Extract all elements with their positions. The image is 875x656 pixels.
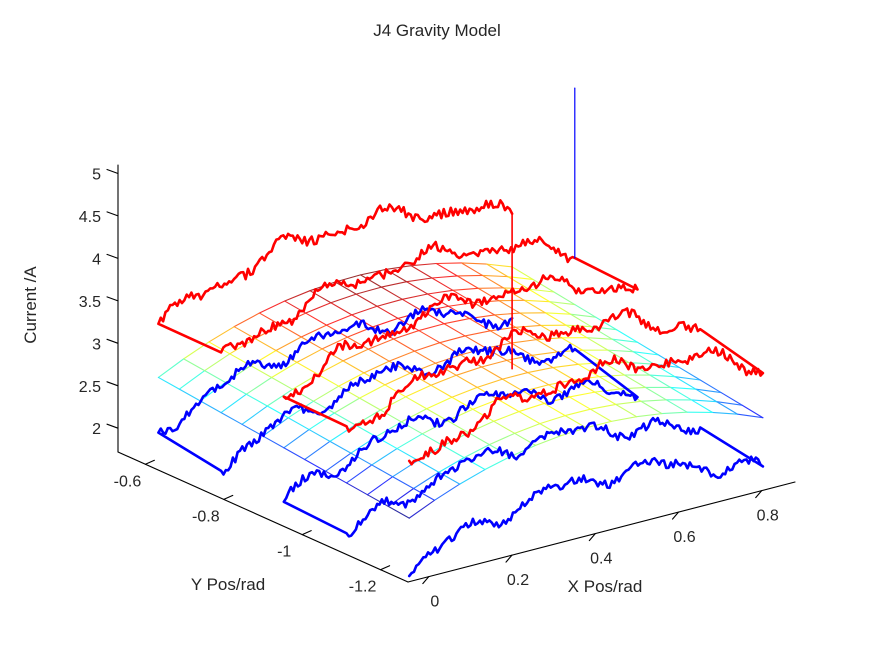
tick-label: 3.5: [79, 294, 101, 311]
data-traces: [158, 88, 763, 576]
tick-label: 0.6: [673, 529, 695, 546]
x-axis-label: X Pos/rad: [568, 577, 643, 596]
tick-label: -1: [277, 544, 291, 561]
z-axis-label: Current /A: [21, 266, 40, 344]
axis-text: 00.20.40.60.8-0.6-0.8-1-1.222.533.544.55: [79, 166, 779, 610]
chart-title: J4 Gravity Model: [373, 21, 501, 40]
surface-plot-canvas: 00.20.40.60.8-0.6-0.8-1-1.222.533.544.55…: [0, 0, 875, 656]
tick-label: 0.8: [757, 508, 779, 525]
tick-label: 3: [92, 336, 101, 353]
tick-label: 4.5: [79, 209, 101, 226]
tick-label: 5: [92, 166, 101, 183]
tick-label: -1.2: [349, 579, 377, 596]
tick-label: -0.8: [192, 508, 220, 525]
negative-direction-trace: [158, 307, 763, 576]
tick-label: 4: [92, 251, 101, 268]
surface-mesh: [158, 263, 763, 518]
tick-label: 0: [430, 594, 439, 611]
y-axis-label: Y Pos/rad: [191, 575, 265, 594]
tick-label: 2.5: [79, 379, 101, 396]
tick-label: 0.2: [507, 572, 529, 589]
tick-label: 2: [92, 421, 101, 438]
matlab-figure-window: 00.20.40.60.8-0.6-0.8-1-1.222.533.544.55…: [0, 0, 875, 656]
tick-label: -0.6: [114, 473, 142, 490]
tick-label: 0.4: [590, 551, 612, 568]
